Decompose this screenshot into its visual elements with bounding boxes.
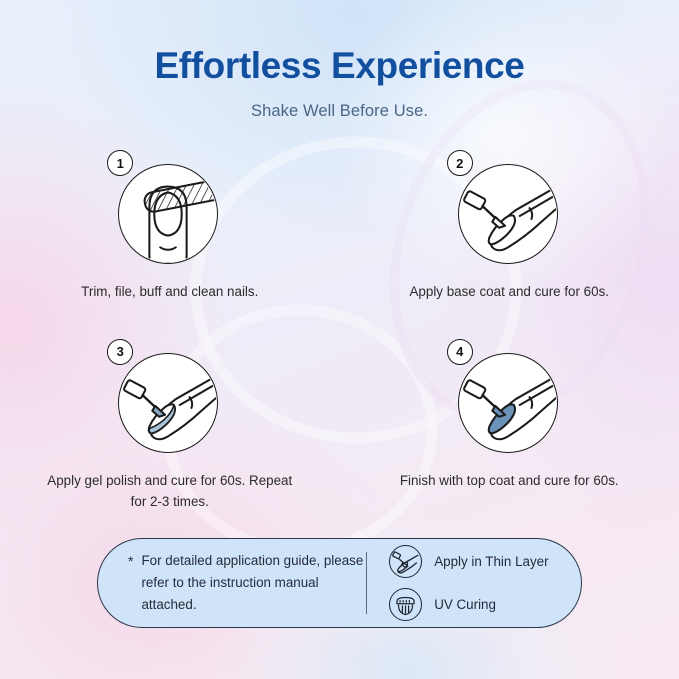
header: Effortless Experience Shake Well Before … — [0, 46, 679, 121]
step-4-caption: Finish with top coat and cure for 60s. — [384, 471, 634, 492]
gel-polish-brush-icon — [118, 353, 218, 453]
step-2-art: 2 — [447, 150, 572, 270]
step-3-art: 3 — [107, 339, 232, 459]
step-1-caption: Trim, file, buff and clean nails. — [45, 282, 295, 303]
base-coat-brush-icon — [458, 164, 558, 264]
uv-lamp-icon — [389, 588, 422, 621]
footer-note-pill: * For detailed application guide, please… — [97, 538, 582, 628]
feature-uv-curing: UV Curing — [389, 588, 581, 621]
steps-row-2: 3 — [0, 339, 679, 513]
top-coat-brush-icon — [458, 353, 558, 453]
nail-file-icon — [118, 164, 218, 264]
step-4-art: 4 — [447, 339, 572, 459]
feature-thin-layer: Apply in Thin Layer — [389, 545, 581, 578]
step-2-number-badge: 2 — [447, 150, 473, 176]
step-3-caption: Apply gel polish and cure for 60s. Repea… — [45, 471, 295, 513]
feature-thin-layer-label: Apply in Thin Layer — [434, 554, 548, 569]
step-2: 2 — [340, 150, 679, 303]
step-3: 3 — [0, 339, 340, 513]
footer-features: Apply in Thin Layer — [367, 545, 581, 621]
asterisk-marker: * — [128, 550, 133, 573]
step-1-number-badge: 1 — [107, 150, 133, 176]
steps-row-1: 1 — [0, 150, 679, 303]
step-4-number-badge: 4 — [447, 339, 473, 365]
step-1: 1 — [0, 150, 340, 303]
footer-note-text: For detailed application guide, please r… — [141, 550, 366, 615]
steps-grid: 1 — [0, 150, 679, 512]
footer-note-block: * For detailed application guide, please… — [98, 550, 366, 615]
instruction-infographic: Effortless Experience Shake Well Before … — [0, 0, 679, 679]
step-2-caption: Apply base coat and cure for 60s. — [384, 282, 634, 303]
step-1-art: 1 — [107, 150, 232, 270]
thin-layer-icon — [389, 545, 422, 578]
page-subtitle: Shake Well Before Use. — [0, 102, 679, 121]
feature-uv-curing-label: UV Curing — [434, 597, 496, 612]
step-3-number-badge: 3 — [107, 339, 133, 365]
step-4: 4 — [340, 339, 679, 513]
page-title: Effortless Experience — [0, 46, 679, 87]
